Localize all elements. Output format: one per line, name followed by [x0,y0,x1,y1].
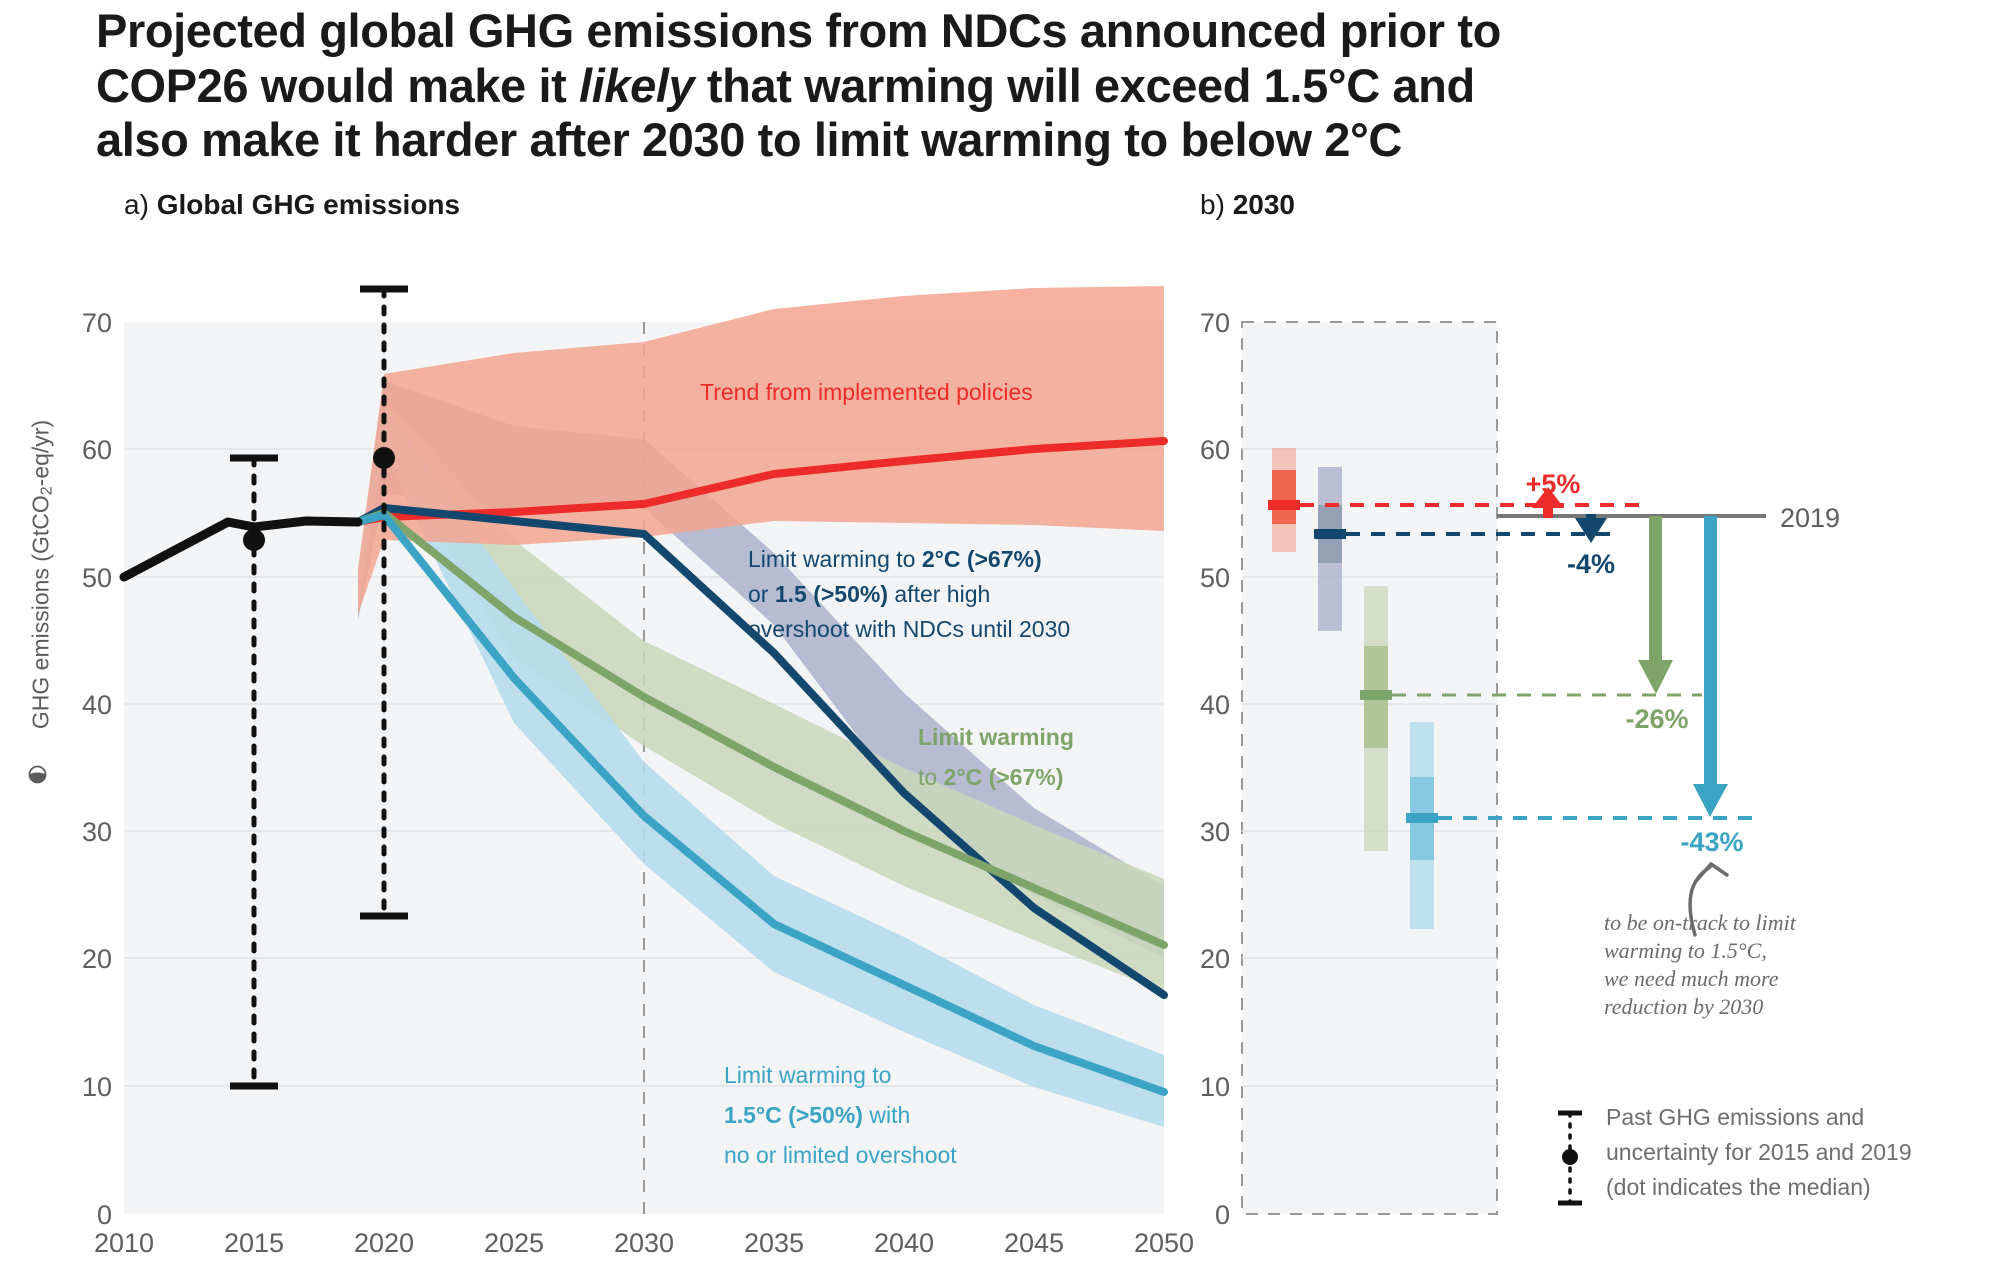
panel-a-xtick-2035: 2035 [744,1228,804,1258]
panel-a-xtick-2020: 2020 [354,1228,414,1258]
annotation-navy-l2b: 1.5 (>50%) [775,581,888,607]
note-line-2: warming to 1.5°C, [1604,938,1767,963]
annotation-cyan-l2b: with [863,1102,910,1128]
figure-canvas: 0 10 20 30 40 50 60 70 2010 2015 2020 20… [0,0,2009,1269]
pct-label-cyan: -43% [1680,827,1743,857]
panel-a-xtick-2030: 2030 [614,1228,674,1258]
note-line-1: to be on-track to limit [1604,910,1797,935]
annotation-green-l2b: 2°C (>67%) [944,764,1064,790]
panel-a-y-ticks: 0 10 20 30 40 50 60 70 [82,308,112,1230]
error-bar-2015-median-dot [243,529,265,551]
panel-b-bar-red [1268,448,1300,552]
panel-b-ytick-10: 10 [1200,1072,1230,1102]
annotation-navy-l3: overshoot with NDCs until 2030 [748,616,1070,642]
panel-b-ytick-70: 70 [1200,308,1230,338]
panel-a-ytick-50: 50 [82,563,112,593]
annotation-navy-l2c: after high [888,581,990,607]
panel-b-ytick-30: 30 [1200,817,1230,847]
svg-text:or 1.5 (>50%) after high: or 1.5 (>50%) after high [748,581,990,607]
panel-a-xtick-2045: 2045 [1004,1228,1064,1258]
annotation-green-l1: Limit warming [918,724,1074,750]
arrow-navy-down [1575,514,1607,543]
panel-a-xtick-2050: 2050 [1134,1228,1194,1258]
annotation-cyan-l1: Limit warming to [724,1062,891,1088]
error-bar-2019-median-dot [373,447,395,469]
note-line-3: we need much more [1604,966,1779,991]
panel-b-y-ticks: 0 10 20 30 40 50 60 70 [1200,308,1230,1230]
panel-a-chart: 0 10 20 30 40 50 60 70 2010 2015 2020 20… [82,286,1194,1258]
panel-b-ytick-40: 40 [1200,690,1230,720]
panel-a-x-ticks: 2010 2015 2020 2025 2030 2035 2040 2045 … [94,1228,1194,1258]
annotation-navy-l1a: Limit warming to [748,546,922,572]
panel-b-ytick-50: 50 [1200,563,1230,593]
panel-b-legend: Past GHG emissions and uncertainty for 2… [1558,1104,1912,1203]
annotation-navy-l2a: or [748,581,775,607]
panel-a-ytick-20: 20 [82,944,112,974]
svg-text:to 2°C (>67%): to 2°C (>67%) [918,764,1063,790]
panel-b-2019-label: 2019 [1780,503,1840,533]
panel-b-chart: 0 10 20 30 40 50 60 70 [1200,308,1912,1230]
annotation-navy-l1b: 2°C (>67%) [922,546,1042,572]
panel-a-ytick-70: 70 [82,308,112,338]
pct-label-green: -26% [1625,704,1688,734]
panel-b-ytick-20: 20 [1200,944,1230,974]
panel-b-ytick-60: 60 [1200,435,1230,465]
arrow-green-down [1638,516,1673,694]
pct-label-red: +5% [1526,469,1581,499]
panel-a-ytick-30: 30 [82,817,112,847]
panel-a-xtick-2015: 2015 [224,1228,284,1258]
annotation-cyan-l3: no or limited overshoot [724,1142,957,1168]
panel-a-ytick-60: 60 [82,435,112,465]
note-line-4: reduction by 2030 [1604,994,1763,1019]
panel-b-bar-green [1360,586,1392,851]
panel-a-xtick-2040: 2040 [874,1228,934,1258]
annotation-red-trend: Trend from implemented policies [700,379,1033,405]
legend-median-dot-icon [1562,1149,1578,1165]
panel-b-bar-navy [1314,467,1346,631]
panel-b-ytick-0: 0 [1215,1200,1230,1230]
panel-a-ytick-40: 40 [82,690,112,720]
handwritten-note: to be on-track to limit warming to 1.5°C… [1604,910,1797,1019]
panel-a-ytick-0: 0 [97,1200,112,1230]
legend-line-1: Past GHG emissions and [1606,1104,1864,1130]
svg-text:1.5°C (>50%) with: 1.5°C (>50%) with [724,1102,910,1128]
annotation-green-l2a: to [918,764,944,790]
arrow-cyan-down [1693,516,1728,817]
svg-text:Limit warming to 2°C (>67%): Limit warming to 2°C (>67%) [748,546,1042,572]
panel-b-bar-cyan [1406,722,1438,929]
panel-a-xtick-2025: 2025 [484,1228,544,1258]
pct-label-navy: -4% [1567,549,1615,579]
legend-line-3: (dot indicates the median) [1606,1174,1871,1200]
panel-a-ytick-10: 10 [82,1072,112,1102]
panel-a-xtick-2010: 2010 [94,1228,154,1258]
legend-line-2: uncertainty for 2015 and 2019 [1606,1139,1912,1165]
annotation-cyan-l2a: 1.5°C (>50%) [724,1102,863,1128]
